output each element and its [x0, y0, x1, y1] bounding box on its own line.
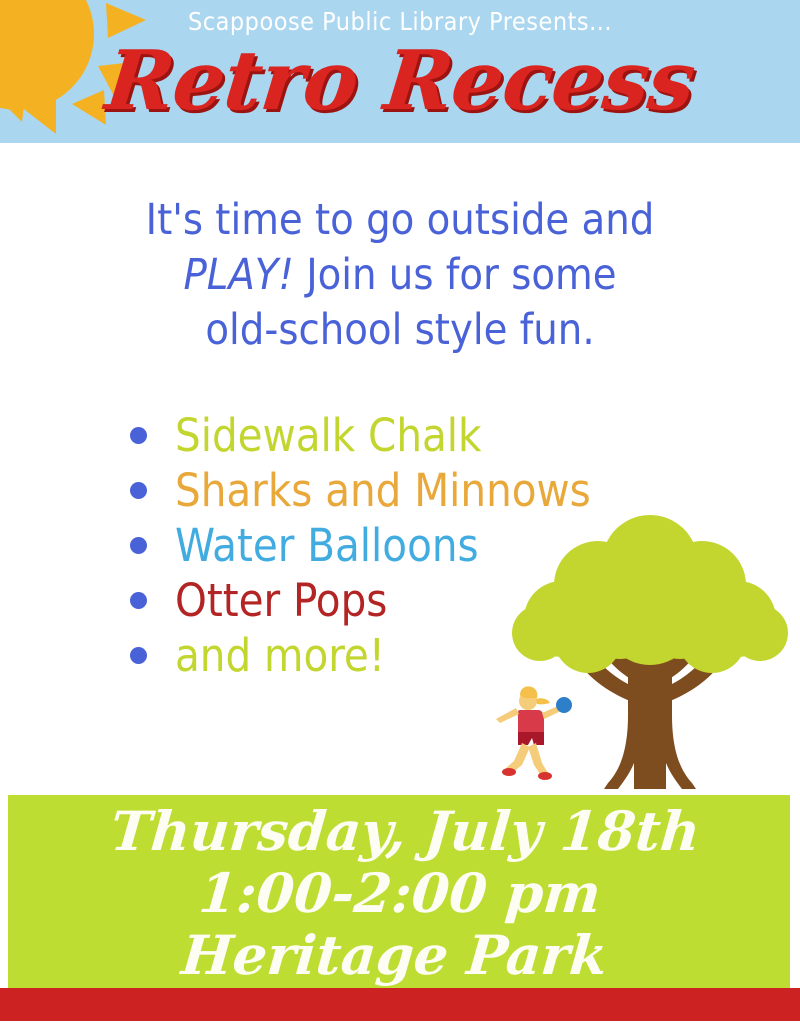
girl-ponytail-icon	[536, 698, 550, 704]
list-item: Sidewalk Chalk	[130, 408, 690, 463]
bullet-icon	[130, 427, 147, 444]
list-item: Sharks and Minnows	[130, 463, 690, 518]
intro-line-3: old-school style fun.	[205, 305, 594, 355]
activity-label: and more!	[175, 633, 385, 678]
header-sky-band: Scappoose Public Library Presents... Ret…	[0, 0, 800, 143]
activity-label: Sidewalk Chalk	[175, 413, 482, 458]
poster-canvas: Scappoose Public Library Presents... Ret…	[0, 0, 800, 1035]
girl-right-leg-icon	[528, 743, 548, 777]
footer-red-bar	[0, 988, 800, 1021]
intro-line-1: It's time to go outside and	[146, 195, 655, 245]
intro-paragraph: It's time to go outside and PLAY! Join u…	[60, 193, 740, 358]
page-title: Retro Recess	[0, 40, 800, 122]
event-details-text: Thursday, July 18th 1:00-2:00 pm Heritag…	[0, 800, 800, 986]
bullet-icon	[130, 537, 147, 554]
event-location: Heritage Park	[0, 924, 797, 986]
girl-right-shoe-icon	[538, 772, 552, 780]
activity-label: Sharks and Minnows	[175, 468, 591, 513]
girl-hair-icon	[520, 686, 537, 698]
girl-playing-icon	[492, 683, 572, 783]
intro-line-2: Join us for some	[294, 250, 617, 300]
activity-label: Water Balloons	[175, 523, 479, 568]
tree-foliage-icon	[512, 515, 788, 673]
girl-shorts-icon	[518, 732, 544, 745]
event-date: Thursday, July 18th	[3, 800, 800, 862]
bullet-icon	[130, 592, 147, 609]
ball-icon	[556, 697, 572, 713]
activity-label: Otter Pops	[175, 578, 387, 623]
bullet-icon	[130, 647, 147, 664]
bullet-icon	[130, 482, 147, 499]
event-time: 1:00-2:00 pm	[0, 862, 800, 924]
girl-left-shoe-icon	[502, 768, 516, 776]
girl-left-arm-icon	[496, 708, 519, 723]
intro-emphasis-play: PLAY!	[183, 250, 293, 300]
presenter-line: Scappoose Public Library Presents...	[0, 7, 800, 36]
girl-shirt-icon	[518, 710, 544, 733]
